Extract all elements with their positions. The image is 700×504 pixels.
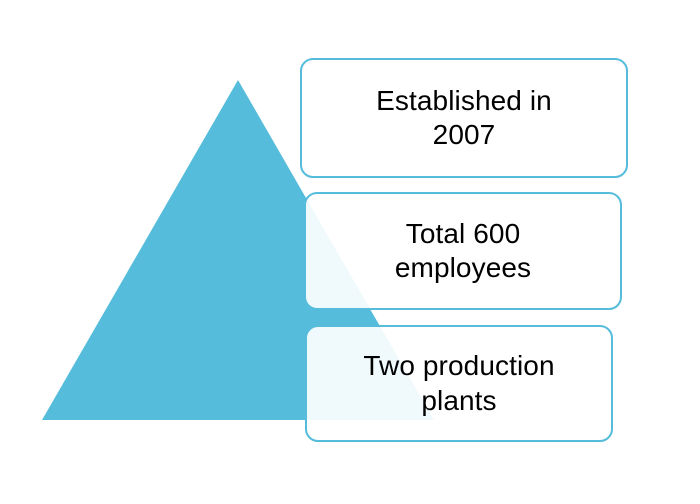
callout-text-employees: Total 600 employees [381, 217, 545, 285]
slide-canvas: Established in 2007 Total 600 employees … [0, 0, 700, 504]
callout-text-plants: Two production plants [349, 349, 568, 417]
callout-box-plants[interactable]: Two production plants [305, 325, 613, 442]
callout-box-established[interactable]: Established in 2007 [300, 58, 628, 178]
callout-box-employees[interactable]: Total 600 employees [304, 192, 622, 310]
callout-text-established: Established in 2007 [362, 84, 566, 152]
